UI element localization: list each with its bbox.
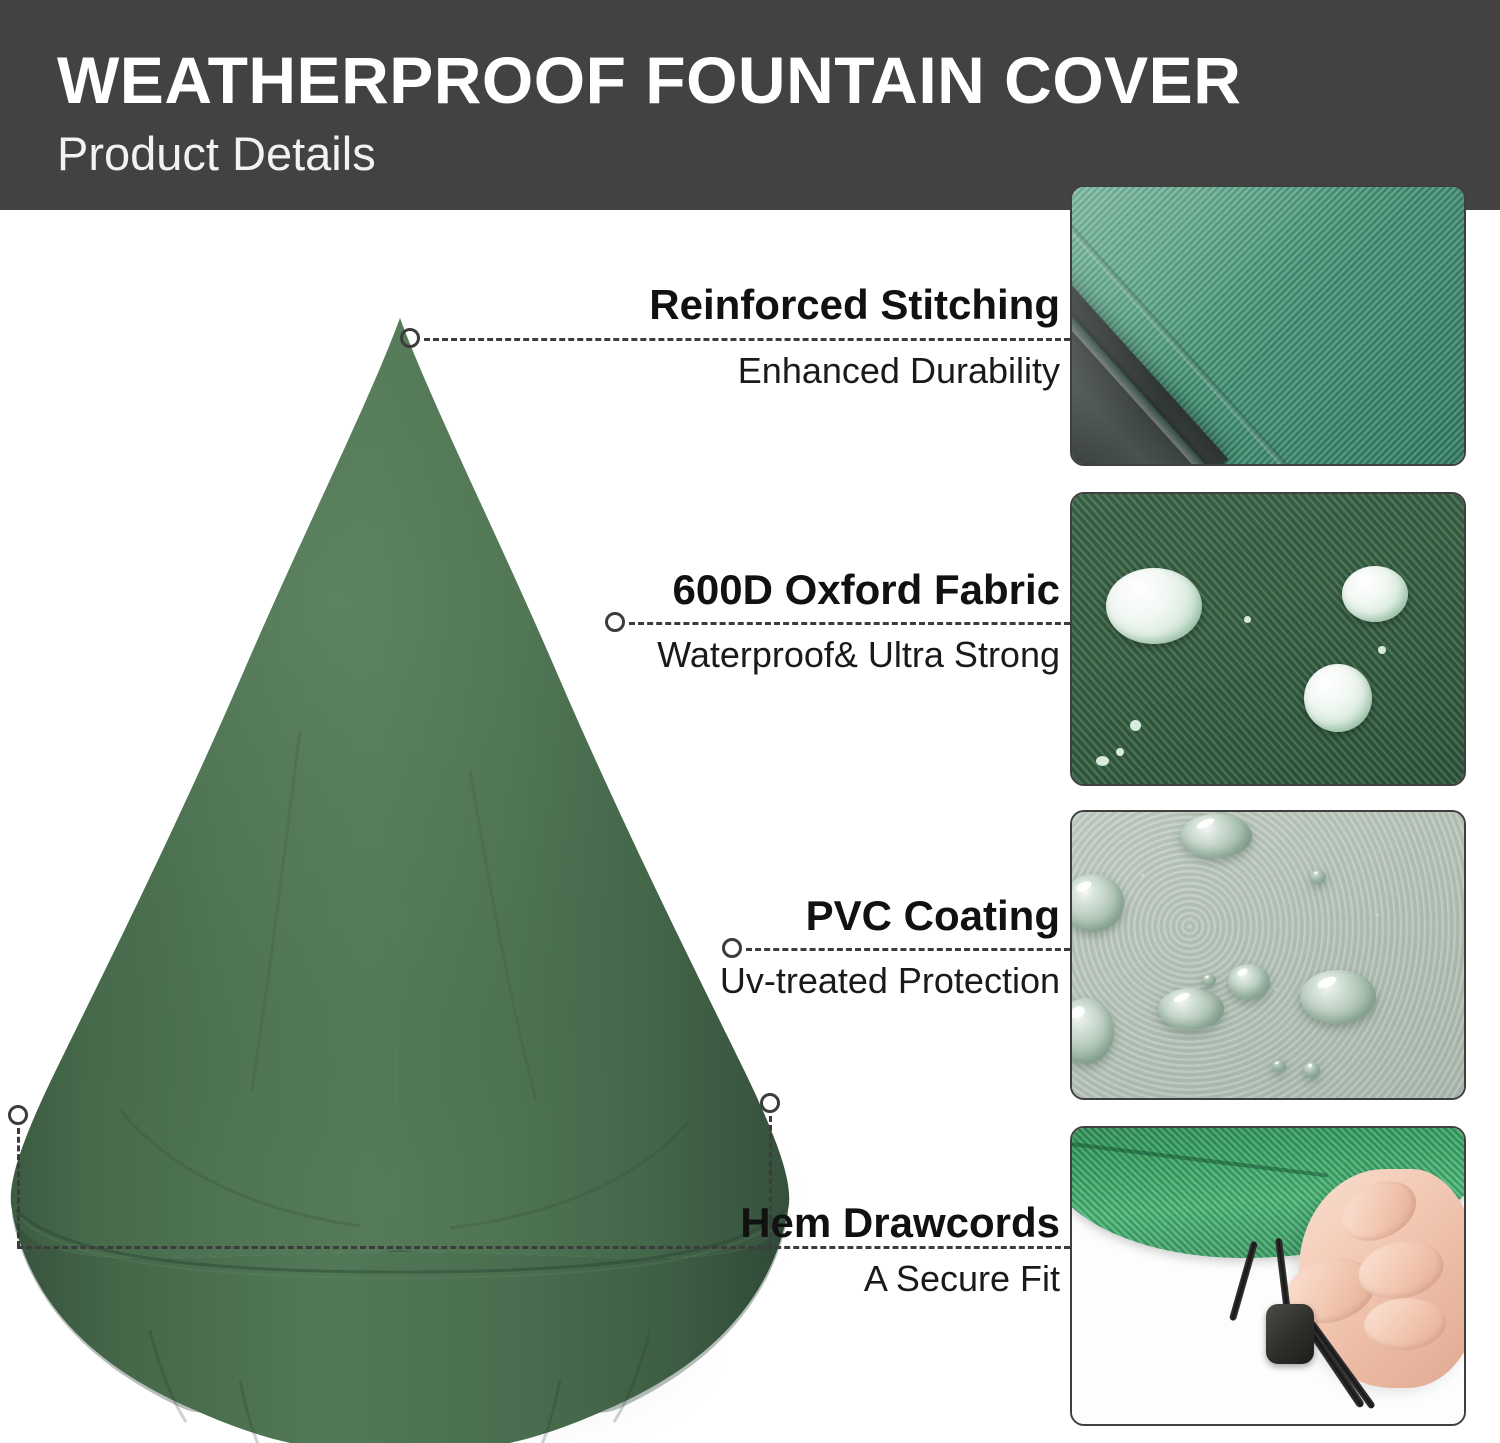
callout-marker-hem-left: [8, 1105, 28, 1125]
pvc-bead-tiny-bottom-a: [1272, 1060, 1286, 1072]
pvc-coating-photo[interactable]: [1070, 810, 1466, 1100]
stitching-photo-inner: [1072, 187, 1464, 464]
water-sparkle-d: [1244, 616, 1251, 623]
product-infographic: WEATHERPROOF FOUNTAIN COVER Product Deta…: [0, 0, 1500, 1443]
callout-line-oxford-fabric: [629, 622, 1070, 625]
callout-title-oxford-fabric: 600D Oxford Fabric: [673, 566, 1060, 614]
pvc-bead-right-large: [1300, 970, 1376, 1024]
callout-marker-hem-right: [760, 1093, 780, 1113]
hem-drawcords-photo[interactable]: [1070, 1126, 1466, 1426]
water-bead-lower-right: [1304, 664, 1372, 732]
pvc-photo-inner: [1072, 812, 1464, 1098]
drawcord-toggle-stopper: [1266, 1304, 1314, 1364]
oxford-fabric-photo[interactable]: [1070, 492, 1466, 786]
drawcords-photo-inner: [1072, 1128, 1464, 1424]
callout-marker-pvc-coating: [722, 938, 742, 958]
water-sparkle-a: [1130, 720, 1141, 731]
pvc-bead-center-small: [1228, 964, 1270, 1000]
page-subtitle: Product Details: [57, 126, 376, 181]
callout-title-hem-drawcords: Hem Drawcords: [740, 1199, 1060, 1247]
callout-subtitle-reinforced-stitching: Enhanced Durability: [738, 350, 1060, 392]
water-bead-large-left: [1106, 568, 1202, 644]
reinforced-stitching-photo[interactable]: [1070, 185, 1466, 466]
page-title: WEATHERPROOF FOUNTAIN COVER: [57, 42, 1241, 118]
pvc-bead-tiny-center: [1202, 974, 1216, 986]
pvc-bead-tiny-bottom-b: [1304, 1062, 1320, 1078]
water-sparkle-e: [1378, 646, 1386, 654]
stitching-highlight: [1072, 187, 1464, 464]
callout-marker-reinforced-stitching: [400, 328, 420, 348]
water-sparkle-c: [1096, 756, 1109, 766]
callout-line-reinforced-stitching: [424, 338, 1070, 341]
pvc-coated-surface-texture: [1072, 812, 1464, 1098]
callout-title-reinforced-stitching: Reinforced Stitching: [649, 281, 1060, 329]
pvc-bead-tiny-upper-right: [1310, 870, 1326, 884]
callout-line-hem-left-vertical: [17, 1128, 20, 1247]
callout-title-pvc-coating: PVC Coating: [806, 892, 1060, 940]
pvc-bead-top-center: [1180, 814, 1252, 858]
callout-line-pvc-coating: [746, 948, 1070, 951]
drawcords-hem-seam: [1070, 1140, 1329, 1177]
water-bead-top-right: [1342, 566, 1408, 622]
callout-subtitle-pvc-coating: Uv-treated Protection: [720, 960, 1060, 1002]
water-sparkle-b: [1116, 748, 1124, 756]
callout-subtitle-hem-drawcords: A Secure Fit: [864, 1258, 1060, 1300]
header-band: WEATHERPROOF FOUNTAIN COVER Product Deta…: [0, 0, 1500, 210]
pvc-bead-center-left: [1158, 988, 1224, 1030]
oxford-photo-inner: [1072, 494, 1464, 784]
callout-subtitle-oxford-fabric: Waterproof& Ultra Strong: [657, 634, 1060, 676]
callout-marker-oxford-fabric: [605, 612, 625, 632]
